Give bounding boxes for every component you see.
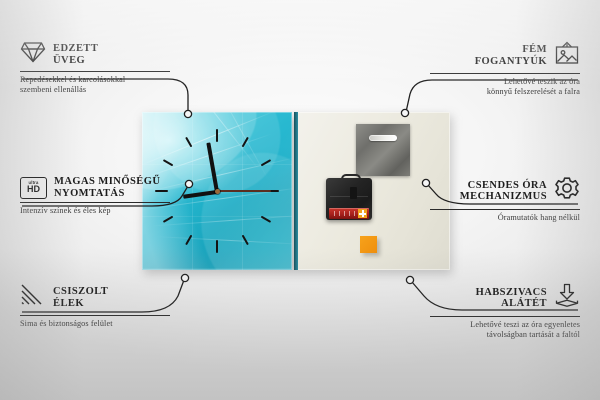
callout-subtitle: Intenzív színek és éles kép: [20, 206, 170, 216]
callout-title: EDZETT ÜVEG: [53, 43, 98, 66]
clock-minute-hand: [206, 142, 219, 192]
callout-metal-handles: FÉM FOGANTYÚK Lehetővé teszik az óra kön…: [430, 41, 580, 97]
glass-edge: [294, 112, 298, 270]
foam-pad: [360, 236, 377, 253]
callout-head: ultra HD MAGAS MINŐSÉGŰ NYOMTATÁS: [20, 176, 170, 199]
metal-hanger-plate: [356, 124, 410, 176]
callout-head: CSISZOLT ÉLEK: [20, 283, 170, 312]
callout-polished-edges: CSISZOLT ÉLEK Sima és biztonságos felüle…: [20, 283, 170, 329]
callout-rule: [20, 71, 170, 72]
callout-foam-pad: HABSZIVACS ALÁTÉT Lehetővé teszi az óra …: [430, 283, 580, 340]
callout-head: HABSZIVACS ALÁTÉT: [430, 283, 580, 313]
connector-dot-edges: [181, 274, 188, 281]
callout-subtitle: Repedésekkel és karcolásokkal szembeni e…: [20, 75, 170, 95]
callout-subtitle: Lehetővé teszik az óra könnyű felszerelé…: [430, 77, 580, 97]
callout-subtitle: Óramutatók hang nélkül: [430, 213, 580, 223]
wall-hanger-icon: [554, 41, 580, 70]
mechanism-seam: [330, 196, 368, 197]
mechanism-slot: [350, 187, 357, 199]
callout-rule: [430, 73, 580, 74]
callout-tempered-glass: EDZETT ÜVEG Repedésekkel és karcolásokka…: [20, 41, 170, 95]
beveled-edge-icon: [20, 283, 46, 312]
clock-mechanism: [326, 174, 372, 220]
callout-high-quality-print: ultra HD MAGAS MINŐSÉGŰ NYOMTATÁS Intenz…: [20, 176, 170, 216]
clock-tick: [185, 137, 192, 148]
clock-tick: [216, 240, 218, 253]
clock-tick: [261, 159, 272, 166]
callout-subtitle: Lehetővé teszi az óra egyenletes távolsá…: [430, 320, 580, 340]
ultra-hd-large-label: HD: [27, 185, 40, 194]
clock-tick: [216, 129, 218, 142]
mechanism-body: [326, 178, 372, 220]
clock-center-cap: [215, 189, 220, 194]
battery-plus-icon: [358, 209, 367, 218]
callout-rule: [20, 202, 170, 203]
diamond-icon: [20, 41, 46, 68]
clock-back-view: [294, 112, 450, 270]
battery-label: [329, 208, 369, 219]
clock-tick: [242, 235, 249, 246]
callout-title: CSENDES ÓRA MECHANIZMUS: [460, 180, 547, 203]
infographic-stage: EDZETT ÜVEG Repedésekkel és karcolásokka…: [0, 0, 600, 400]
callout-silent-mechanism: CSENDES ÓRA MECHANIZMUS Óramutatók hang …: [430, 176, 580, 223]
product-image: [142, 112, 450, 270]
clock-tick: [242, 137, 249, 148]
callout-subtitle: Sima és biztonságos felület: [20, 319, 170, 329]
clock-tick: [163, 216, 174, 223]
clock-tick: [185, 235, 192, 246]
gear-icon: [554, 176, 580, 206]
callout-head: CSENDES ÓRA MECHANIZMUS: [430, 176, 580, 206]
callout-head: EDZETT ÜVEG: [20, 41, 170, 68]
hanger-slot: [369, 135, 397, 141]
callout-title: HABSZIVACS ALÁTÉT: [476, 287, 547, 310]
clock-tick: [163, 159, 174, 166]
connector-dot-foam: [406, 276, 413, 283]
callout-rule: [430, 209, 580, 210]
clock-hour-hand: [183, 190, 217, 199]
callout-title: CSISZOLT ÉLEK: [53, 286, 108, 309]
callout-rule: [20, 315, 170, 316]
arrow-down-pad-icon: [554, 283, 580, 313]
clock-tick: [261, 216, 272, 223]
callout-title: MAGAS MINŐSÉGŰ NYOMTATÁS: [54, 176, 160, 199]
clock-second-hand: [217, 190, 271, 192]
callout-rule: [430, 316, 580, 317]
ultra-hd-icon: ultra HD: [20, 177, 47, 199]
callout-title: FÉM FOGANTYÚK: [475, 44, 547, 67]
callout-head: FÉM FOGANTYÚK: [430, 41, 580, 70]
